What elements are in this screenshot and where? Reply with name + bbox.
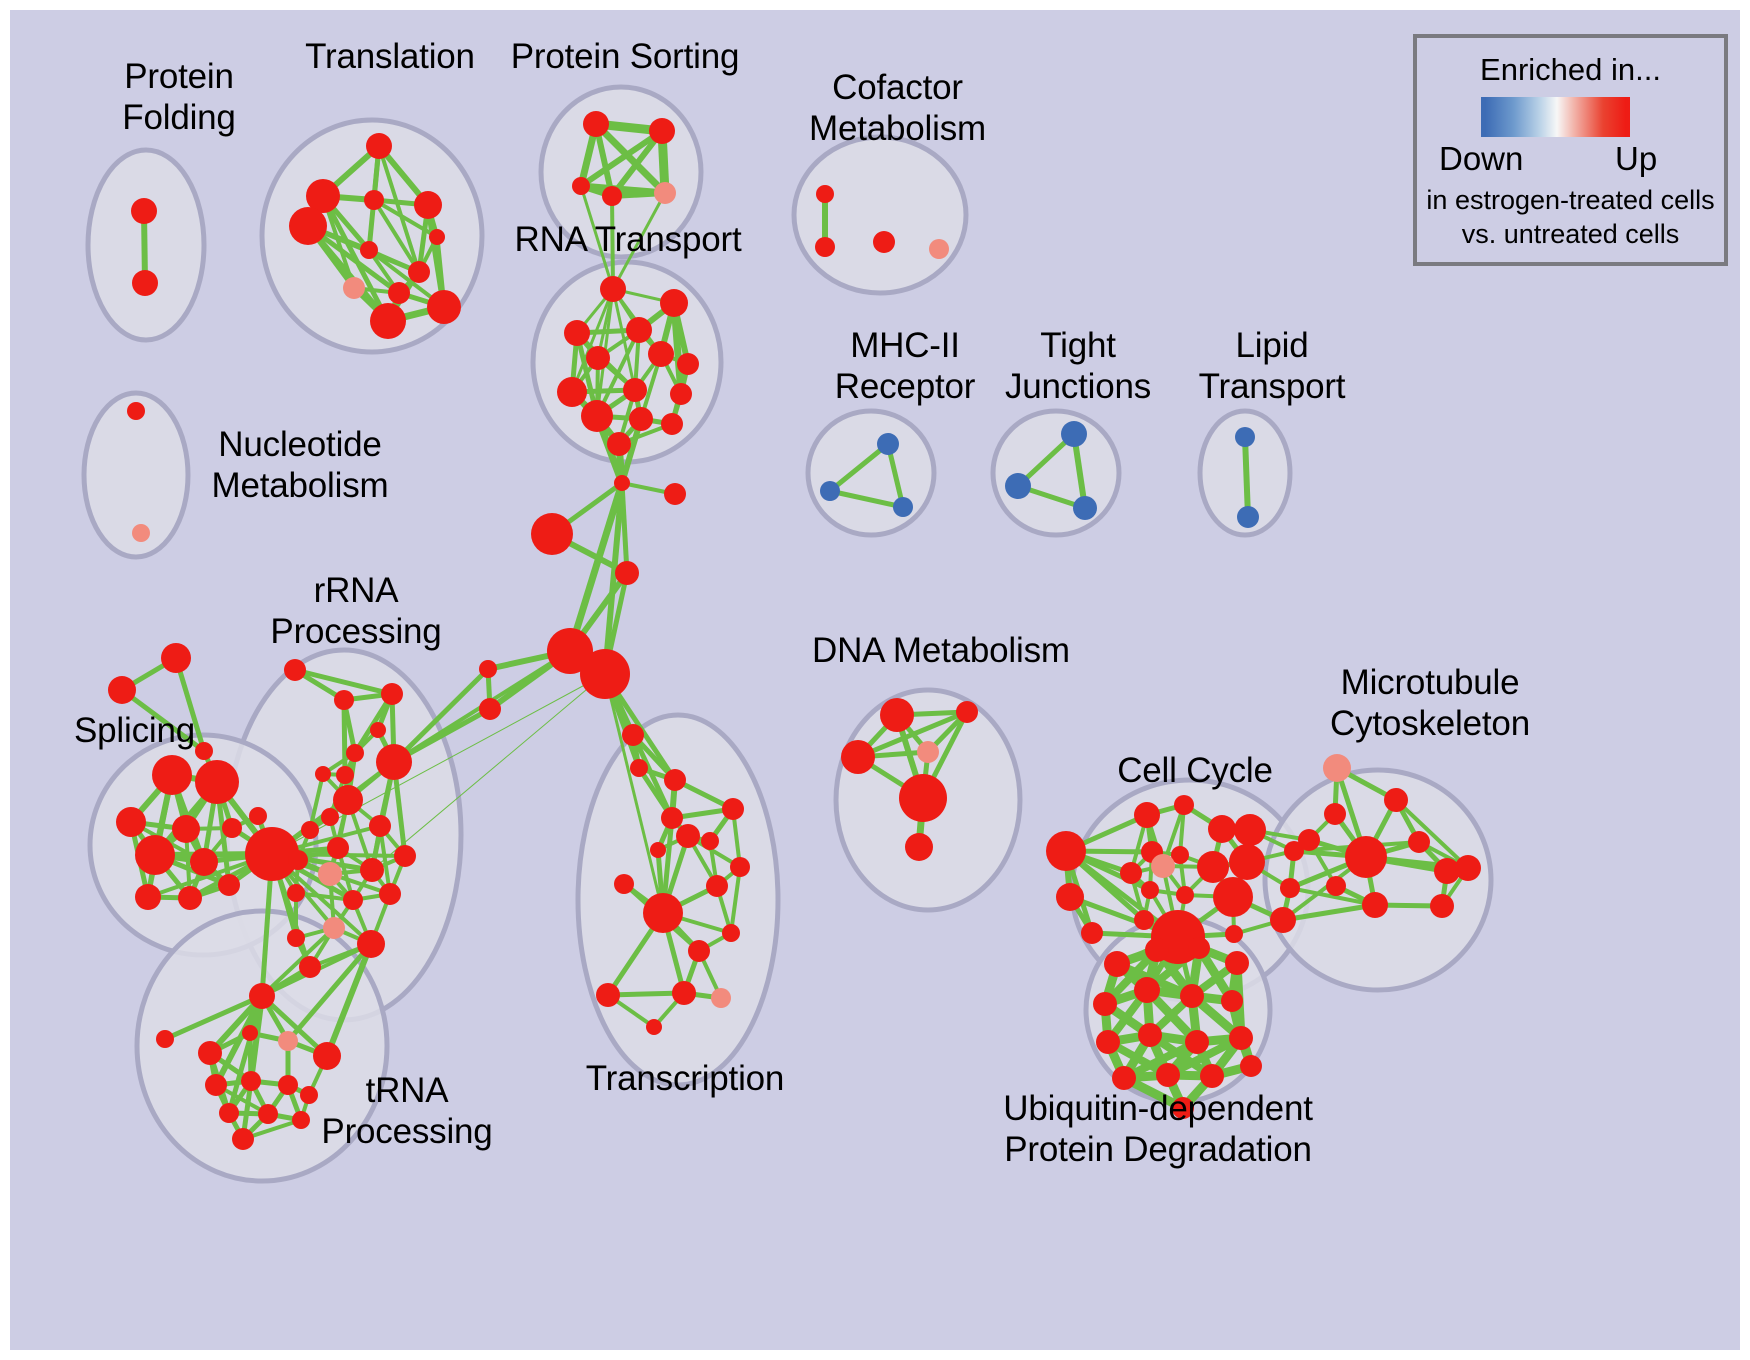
- cluster-label-mhc-ii-receptor: MHC-IIReceptor: [805, 325, 1005, 407]
- gene-set-node[interactable]: [706, 875, 728, 897]
- legend-subtitle-line-1: in estrogen-treated cells: [1417, 185, 1724, 216]
- gene-set-node[interactable]: [1141, 881, 1159, 899]
- gene-set-node[interactable]: [564, 320, 590, 346]
- gene-set-node[interactable]: [661, 807, 683, 829]
- gene-set-node[interactable]: [479, 660, 497, 678]
- gene-set-node[interactable]: [370, 722, 386, 738]
- gene-set-node[interactable]: [205, 1074, 227, 1096]
- gene-set-node[interactable]: [408, 261, 430, 283]
- gene-set-node[interactable]: [1104, 951, 1130, 977]
- gene-set-node[interactable]: [929, 239, 949, 259]
- gene-set-node[interactable]: [284, 659, 306, 681]
- gene-set-node[interactable]: [820, 481, 840, 501]
- gene-set-node[interactable]: [427, 290, 461, 324]
- legend-subtitle-line-2: vs. untreated cells: [1417, 219, 1724, 250]
- gene-set-node[interactable]: [905, 833, 933, 861]
- cluster-label-splicing: Splicing: [62, 710, 207, 751]
- legend-panel: Enriched in... Down Up in estrogen-treat…: [1413, 34, 1728, 266]
- gene-set-node[interactable]: [1229, 844, 1265, 880]
- gene-set-node[interactable]: [1455, 855, 1481, 881]
- cluster-label-transcription: Transcription: [570, 1058, 800, 1099]
- gene-set-node[interactable]: [1362, 892, 1388, 918]
- gene-set-node[interactable]: [626, 317, 652, 343]
- gene-set-node[interactable]: [394, 845, 416, 867]
- gene-set-node[interactable]: [600, 276, 626, 302]
- gene-set-node[interactable]: [1324, 803, 1346, 825]
- hull-tight: [993, 411, 1119, 535]
- gene-set-node[interactable]: [1156, 1063, 1180, 1087]
- cluster-label-line: Metabolism: [190, 465, 410, 506]
- gene-set-node[interactable]: [108, 676, 136, 704]
- gene-set-node[interactable]: [580, 649, 630, 699]
- cluster-label-line: Protein Degradation: [993, 1129, 1323, 1170]
- gene-set-node[interactable]: [321, 808, 339, 826]
- gene-set-node[interactable]: [672, 981, 696, 1005]
- gene-set-node[interactable]: [152, 755, 192, 795]
- gene-set-node[interactable]: [172, 815, 200, 843]
- gene-set-node[interactable]: [1005, 473, 1031, 499]
- gene-set-node[interactable]: [557, 377, 587, 407]
- gene-set-node[interactable]: [364, 190, 384, 210]
- gene-set-node[interactable]: [596, 983, 620, 1007]
- cluster-label-tight-junctions: TightJunctions: [988, 325, 1168, 407]
- gene-set-node[interactable]: [1112, 1066, 1136, 1090]
- gene-set-node[interactable]: [479, 698, 501, 720]
- gene-set-node[interactable]: [1298, 829, 1320, 851]
- gene-set-node[interactable]: [301, 821, 319, 839]
- hull-mhc: [808, 411, 934, 535]
- cluster-label-lipid-transport: LipidTransport: [1177, 325, 1367, 407]
- gene-set-node[interactable]: [1197, 851, 1229, 883]
- gene-set-node[interactable]: [654, 182, 676, 204]
- gene-set-node[interactable]: [1073, 496, 1097, 520]
- gene-set-node[interactable]: [956, 701, 978, 723]
- cluster-label-line: DNA Metabolism: [812, 630, 1067, 671]
- cluster-label-line: Junctions: [988, 366, 1168, 407]
- gene-set-node[interactable]: [646, 1019, 662, 1035]
- cluster-label-line: MHC-II: [805, 325, 1005, 366]
- gene-set-node[interactable]: [1384, 788, 1408, 812]
- cluster-label-protein-folding: ProteinFolding: [84, 56, 274, 138]
- cluster-label-line: Processing: [256, 611, 456, 652]
- gene-set-node[interactable]: [841, 740, 875, 774]
- cluster-label-trna-processing: tRNAProcessing: [312, 1070, 502, 1152]
- gene-set-node[interactable]: [287, 929, 305, 947]
- gene-set-node[interactable]: [360, 858, 384, 882]
- gene-set-node[interactable]: [132, 270, 158, 296]
- gene-set-node[interactable]: [1134, 910, 1154, 930]
- gene-set-node[interactable]: [333, 785, 363, 815]
- gene-set-node[interactable]: [1151, 854, 1175, 878]
- gene-set-node[interactable]: [388, 282, 410, 304]
- gene-set-node[interactable]: [242, 1025, 258, 1041]
- gene-set-node[interactable]: [722, 924, 740, 942]
- gene-set-node[interactable]: [1280, 878, 1300, 898]
- cluster-label-line: Ubiquitin-dependent: [993, 1088, 1323, 1129]
- gene-set-node[interactable]: [1200, 1064, 1224, 1088]
- gene-set-node[interactable]: [278, 1031, 298, 1051]
- gene-set-node[interactable]: [1093, 992, 1117, 1016]
- cluster-label-dna-metabolism: DNA Metabolism: [812, 630, 1067, 671]
- gene-set-node[interactable]: [379, 883, 401, 905]
- gene-set-node[interactable]: [1235, 427, 1255, 447]
- cluster-label-cell-cycle: Cell Cycle: [1105, 750, 1285, 791]
- gene-set-node[interactable]: [1229, 1026, 1253, 1050]
- gene-set-node[interactable]: [623, 378, 647, 402]
- gene-set-node[interactable]: [722, 798, 744, 820]
- gene-set-node[interactable]: [1046, 831, 1086, 871]
- network-edge: [344, 700, 345, 775]
- cluster-label-line: Metabolism: [790, 108, 1005, 149]
- cluster-label-line: Cytoskeleton: [1310, 703, 1550, 744]
- gene-set-node[interactable]: [1225, 951, 1249, 975]
- gene-set-node[interactable]: [161, 643, 191, 673]
- gene-set-node[interactable]: [131, 198, 157, 224]
- gene-set-node[interactable]: [1081, 922, 1103, 944]
- gene-set-node[interactable]: [334, 690, 354, 710]
- gene-set-node[interactable]: [336, 766, 354, 784]
- gene-set-node[interactable]: [899, 774, 947, 822]
- hull-cofactor: [794, 137, 966, 293]
- cluster-label-protein-sorting: Protein Sorting: [505, 36, 745, 77]
- cluster-label-microtubule-cytoskeleton: MicrotubuleCytoskeleton: [1310, 662, 1550, 744]
- gene-set-node[interactable]: [366, 133, 392, 159]
- gene-set-node[interactable]: [664, 769, 686, 791]
- gene-set-node[interactable]: [629, 407, 653, 431]
- cluster-label-line: Tight: [988, 325, 1168, 366]
- cluster-label-line: Cell Cycle: [1105, 750, 1285, 791]
- gene-set-node[interactable]: [292, 1111, 310, 1129]
- gene-set-node[interactable]: [649, 118, 675, 144]
- gene-set-node[interactable]: [711, 988, 731, 1008]
- gene-set-node[interactable]: [327, 837, 349, 859]
- cluster-label-line: Cofactor: [790, 67, 1005, 108]
- cluster-label-rrna-processing: rRNAProcessing: [256, 570, 456, 652]
- gene-set-node[interactable]: [357, 930, 385, 958]
- hull-microtubule: [1265, 770, 1491, 990]
- gene-set-node[interactable]: [730, 857, 750, 877]
- gene-set-node[interactable]: [1145, 938, 1169, 962]
- gene-set-node[interactable]: [1345, 836, 1387, 878]
- gene-set-node[interactable]: [1120, 862, 1142, 884]
- gene-set-node[interactable]: [701, 832, 719, 850]
- gene-set-node[interactable]: [880, 698, 914, 732]
- cluster-label-line: Protein: [84, 56, 274, 97]
- cluster-label-line: Splicing: [62, 710, 207, 751]
- gene-set-node[interactable]: [1185, 1030, 1209, 1054]
- gene-set-node[interactable]: [232, 1128, 254, 1150]
- cluster-label-line: Processing: [312, 1111, 502, 1152]
- gene-set-node[interactable]: [414, 191, 442, 219]
- cluster-label-line: Microtubule: [1310, 662, 1550, 703]
- gene-set-node[interactable]: [1326, 876, 1346, 896]
- network-edge: [1245, 437, 1248, 517]
- gene-set-node[interactable]: [1225, 925, 1243, 943]
- gene-set-node[interactable]: [190, 848, 218, 876]
- gene-set-node[interactable]: [1430, 894, 1454, 918]
- gene-set-node[interactable]: [676, 824, 700, 848]
- gene-set-node[interactable]: [249, 983, 275, 1009]
- legend-title: Enriched in...: [1417, 52, 1724, 88]
- gene-set-node[interactable]: [917, 741, 939, 763]
- gene-set-node[interactable]: [299, 956, 321, 978]
- color-gradient-bar: [1481, 97, 1630, 137]
- cluster-label-line: Transcription: [570, 1058, 800, 1099]
- gene-set-node[interactable]: [816, 185, 834, 203]
- gene-set-node[interactable]: [315, 766, 331, 782]
- gene-set-node[interactable]: [135, 884, 161, 910]
- gene-set-node[interactable]: [249, 807, 267, 825]
- gene-set-node[interactable]: [1138, 1023, 1162, 1047]
- gene-set-node[interactable]: [607, 432, 631, 456]
- gene-set-node[interactable]: [1134, 802, 1160, 828]
- gene-set-node[interactable]: [893, 497, 913, 517]
- gene-set-node[interactable]: [1180, 984, 1204, 1008]
- gene-set-node[interactable]: [602, 186, 622, 206]
- gene-set-node[interactable]: [1176, 886, 1194, 904]
- cluster-label-line: Translation: [290, 36, 490, 77]
- gene-set-node[interactable]: [1270, 907, 1296, 933]
- gene-set-node[interactable]: [670, 383, 692, 405]
- gene-set-node[interactable]: [156, 1030, 174, 1048]
- gene-set-node[interactable]: [688, 940, 710, 962]
- gene-set-node[interactable]: [360, 241, 378, 259]
- gene-set-node[interactable]: [1323, 754, 1351, 782]
- gene-set-node[interactable]: [1061, 421, 1087, 447]
- gene-set-node[interactable]: [318, 862, 342, 886]
- gene-set-node[interactable]: [873, 231, 895, 253]
- gene-set-node[interactable]: [278, 1075, 298, 1095]
- gene-set-node[interactable]: [346, 744, 364, 762]
- gene-set-node[interactable]: [1056, 883, 1084, 911]
- gene-set-node[interactable]: [287, 884, 305, 902]
- gene-set-node[interactable]: [135, 835, 175, 875]
- gene-set-node[interactable]: [1096, 1030, 1120, 1054]
- gene-set-node[interactable]: [583, 111, 609, 137]
- legend-up-label: Up: [1615, 140, 1657, 178]
- cluster-label-rna-transport: RNA Transport: [508, 219, 748, 260]
- gene-set-node[interactable]: [660, 289, 688, 317]
- gene-set-node[interactable]: [630, 759, 648, 777]
- cluster-label-cofactor-metabolism: CofactorMetabolism: [790, 67, 1005, 149]
- cluster-label-line: Protein Sorting: [505, 36, 745, 77]
- cluster-label-line: Transport: [1177, 366, 1367, 407]
- gene-set-node[interactable]: [127, 402, 145, 420]
- cluster-label-line: Lipid: [1177, 325, 1367, 366]
- gene-set-node[interactable]: [343, 890, 363, 910]
- gene-set-node[interactable]: [198, 1041, 222, 1065]
- cluster-label-translation: Translation: [290, 36, 490, 77]
- gene-set-node[interactable]: [648, 341, 674, 367]
- enrichment-map-figure: ProteinFoldingTranslationProtein Sorting…: [0, 0, 1750, 1360]
- gene-set-node[interactable]: [219, 1103, 239, 1123]
- cluster-label-line: Folding: [84, 97, 274, 138]
- gene-set-node[interactable]: [622, 724, 644, 746]
- gene-set-node[interactable]: [614, 475, 630, 491]
- gene-set-node[interactable]: [815, 237, 835, 257]
- gene-set-node[interactable]: [288, 850, 308, 870]
- gene-set-node[interactable]: [615, 561, 639, 585]
- gene-set-node[interactable]: [664, 483, 686, 505]
- gene-set-node[interactable]: [376, 744, 412, 780]
- gene-set-node[interactable]: [1174, 795, 1194, 815]
- gene-set-node[interactable]: [1237, 506, 1259, 528]
- cluster-label-nucleotide-metabolism: NucleotideMetabolism: [190, 424, 410, 506]
- gene-set-node[interactable]: [381, 683, 403, 705]
- gene-set-node[interactable]: [178, 886, 202, 910]
- gene-set-node[interactable]: [343, 277, 365, 299]
- gene-set-node[interactable]: [661, 413, 683, 435]
- gene-set-node[interactable]: [1134, 977, 1160, 1003]
- gene-set-node[interactable]: [581, 400, 613, 432]
- gene-set-node[interactable]: [1240, 1055, 1262, 1077]
- gene-set-node[interactable]: [222, 818, 242, 838]
- gene-set-node[interactable]: [1408, 831, 1430, 853]
- cluster-label-line: tRNA: [312, 1070, 502, 1111]
- gene-set-node[interactable]: [643, 893, 683, 933]
- gene-set-node[interactable]: [1234, 814, 1266, 846]
- gene-set-node[interactable]: [1213, 877, 1253, 917]
- gene-set-node[interactable]: [429, 229, 445, 245]
- gene-set-node[interactable]: [218, 874, 240, 896]
- gene-set-node[interactable]: [572, 177, 590, 195]
- gene-set-node[interactable]: [369, 815, 391, 837]
- gene-set-node[interactable]: [313, 1042, 341, 1070]
- gene-set-node[interactable]: [195, 760, 239, 804]
- cluster-label-line: rRNA: [256, 570, 456, 611]
- gene-set-node[interactable]: [586, 346, 610, 370]
- legend-down-label: Down: [1439, 140, 1523, 178]
- gene-set-node[interactable]: [132, 524, 150, 542]
- cluster-label-ubiquitin-protein-degradation: Ubiquitin-dependentProtein Degradation: [993, 1088, 1323, 1170]
- gene-set-node[interactable]: [258, 1104, 278, 1124]
- gene-set-node[interactable]: [677, 353, 699, 375]
- gene-set-node[interactable]: [650, 842, 666, 858]
- cluster-label-line: RNA Transport: [508, 219, 748, 260]
- gene-set-node[interactable]: [877, 433, 899, 455]
- gene-set-node[interactable]: [1188, 937, 1210, 959]
- gene-set-node[interactable]: [116, 807, 146, 837]
- gene-set-node[interactable]: [1221, 990, 1243, 1012]
- gene-set-node[interactable]: [531, 513, 573, 555]
- gene-set-node[interactable]: [1208, 815, 1236, 843]
- gene-set-node[interactable]: [323, 917, 345, 939]
- gene-set-node[interactable]: [241, 1071, 261, 1091]
- cluster-label-line: Nucleotide: [190, 424, 410, 465]
- gene-set-node[interactable]: [289, 207, 327, 245]
- gene-set-node[interactable]: [370, 303, 406, 339]
- gene-set-node[interactable]: [614, 874, 634, 894]
- cluster-label-line: Receptor: [805, 366, 1005, 407]
